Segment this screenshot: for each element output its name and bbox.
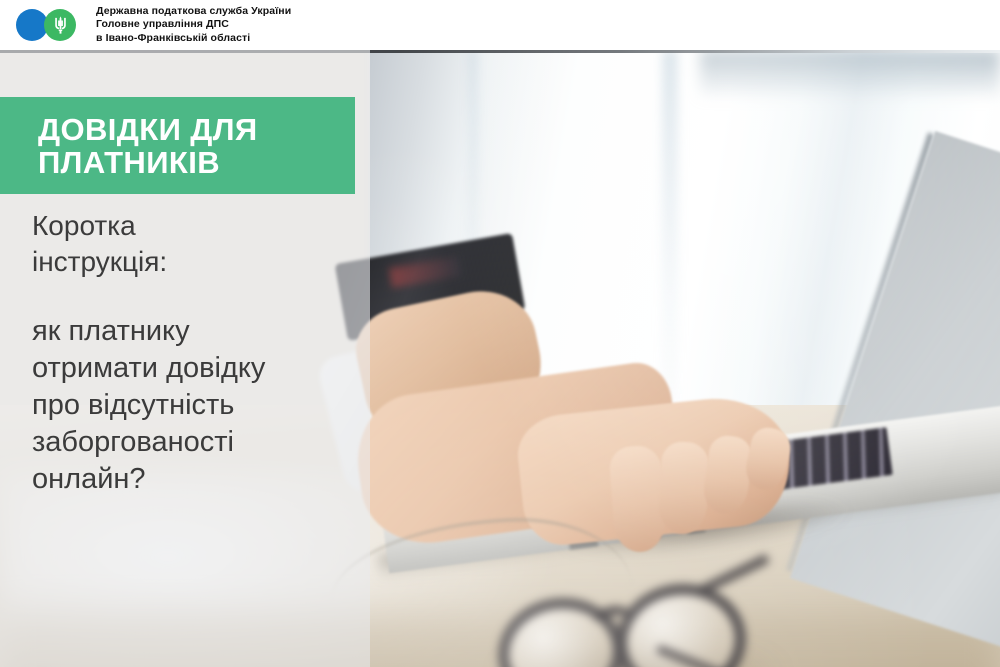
title-banner: ДОВІДКИ ДЛЯ ПЛАТНИКІВ bbox=[0, 97, 355, 194]
photo-eyeglasses bbox=[498, 562, 758, 667]
lead-text: Коротка інструкція: bbox=[32, 208, 352, 280]
organization-name: Державна податкова служба України Головн… bbox=[96, 5, 291, 45]
poster: ДОВІДКИ ДЛЯ ПЛАТНИКІВ Коротка інструкція… bbox=[0, 0, 1000, 667]
header-bar: Державна податкова служба України Головн… bbox=[0, 0, 1000, 50]
organization-logo bbox=[16, 9, 84, 41]
ukraine-trident-icon bbox=[44, 9, 76, 41]
org-line-2: Головне управління ДПС bbox=[96, 18, 291, 31]
question-text: як платнику отримати довідку про відсутн… bbox=[32, 313, 362, 498]
page-title: ДОВІДКИ ДЛЯ ПЛАТНИКІВ bbox=[38, 113, 258, 179]
photo-blind bbox=[700, 50, 1000, 96]
org-line-3: в Івано-Франківській області bbox=[96, 32, 291, 45]
org-line-1: Державна податкова служба України bbox=[96, 5, 291, 18]
